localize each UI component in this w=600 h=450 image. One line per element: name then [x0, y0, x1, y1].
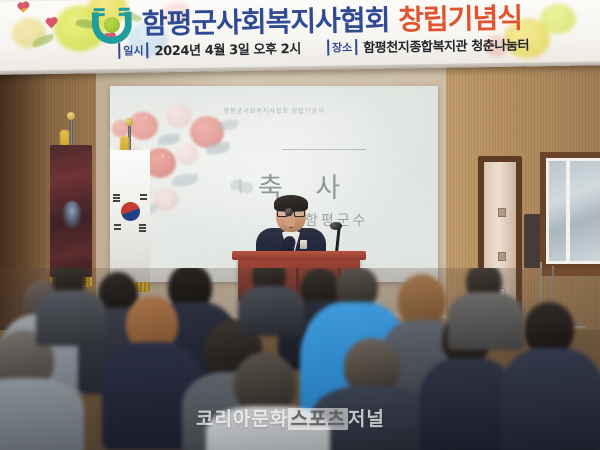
window-inner-frame	[546, 158, 600, 264]
south-korea-flag	[110, 150, 150, 285]
watermark-part-1: 코리아	[196, 408, 251, 430]
slide-header-text: 함평군사회복지사협회 창립기념식	[110, 106, 438, 115]
banner-heart-icon	[18, 3, 28, 13]
taeguk-symbol	[121, 202, 140, 221]
flag-emblem	[62, 201, 82, 229]
sliding-window	[540, 152, 600, 272]
organization-flag	[50, 145, 92, 280]
flagpole-finial	[67, 112, 75, 120]
watermark-part-2: 문화	[251, 408, 288, 430]
watermark-part-3: 스포츠	[288, 408, 347, 430]
podium-top	[232, 251, 366, 260]
watermark: 코리아문화스포츠저널	[196, 404, 385, 431]
banner-date-value: 2024년 4월 3일 오후 2시	[154, 38, 301, 59]
microphone-head	[285, 208, 293, 216]
window-mullion	[566, 161, 570, 261]
flagpole-finial	[125, 118, 133, 126]
banner-place-tag: 장소	[327, 39, 357, 55]
event-photograph: 함평군사회복지사협회 창립기념식 축 사 함평군수	[0, 0, 600, 450]
lapel-badge	[300, 240, 307, 249]
door-hinge	[498, 252, 506, 261]
banner-place-value: 함평천지종합복지관 청춘나눔터	[363, 34, 529, 56]
banner-title-accent: 창립기념식	[398, 2, 522, 37]
window-glass	[549, 161, 600, 261]
watermark-part-4: 저널	[348, 408, 385, 430]
banner-title-main: 함평군사회복지사협회	[142, 4, 390, 41]
door-hinge	[498, 208, 506, 217]
slide-divider	[282, 149, 366, 150]
banner-decoration	[540, 4, 576, 35]
event-banner: 함평군사회복지사협회 창립기념식 일시 2024년 4월 3일 오후 2시 장소…	[0, 0, 600, 75]
banner-date-tag: 일시	[118, 42, 148, 58]
speaker-hand	[285, 216, 295, 227]
